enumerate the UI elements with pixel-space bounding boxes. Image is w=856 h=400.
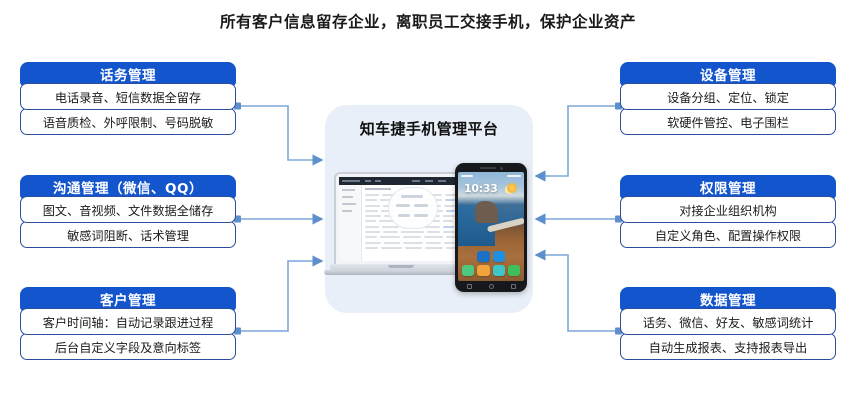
- dashboard-body: [339, 185, 463, 261]
- box-row: 自定义角色、配置操作权限: [620, 221, 836, 248]
- dashboard-topbar: [339, 177, 463, 185]
- box-row: 客户时间轴：自动记录跟进过程: [20, 308, 236, 335]
- box-row: 电话录音、短信数据全留存: [20, 83, 236, 110]
- phone-screen: 10:33: [458, 172, 524, 281]
- weather-sun-icon: [507, 183, 517, 193]
- box-row: 图文、音视频、文件数据全储存: [20, 196, 236, 223]
- phone-camera: [500, 167, 503, 170]
- app-icon-info: [493, 251, 505, 262]
- box-row: 语音质检、外呼限制、号码脱敏: [20, 108, 236, 135]
- box-row: 自动生成报表、支持报表导出: [620, 333, 836, 360]
- smartphone-illustration: 10:33: [455, 163, 527, 292]
- app-icon-contacts: [493, 265, 505, 276]
- laptop-lid: [334, 172, 468, 266]
- feature-box-goutong-guanli[interactable]: 沟通管理（微信、QQ） 图文、音视频、文件数据全储存 敏感词阻断、话术管理: [20, 175, 236, 248]
- app-icon-phone: [462, 265, 474, 276]
- wire-huawu: [238, 106, 322, 160]
- app-icon-wechat: [508, 265, 520, 276]
- feature-box-shuju-guanli[interactable]: 数据管理 话务、微信、好友、敏感词统计 自动生成报表、支持报表导出: [620, 287, 836, 360]
- laptop-foot: [323, 270, 475, 275]
- box-row: 设备分组、定位、锁定: [620, 83, 836, 110]
- wire-shuju: [536, 255, 618, 331]
- feature-box-shebei-guanli[interactable]: 设备管理 设备分组、定位、锁定 软硬件管控、电子围栏: [620, 62, 836, 135]
- phone-status-bar: [458, 172, 524, 179]
- dashboard-table: [362, 185, 463, 261]
- diagram-canvas: 所有客户信息留存企业，离职员工交接手机，保护企业资产: [0, 0, 856, 400]
- box-row: 对接企业组织机构: [620, 196, 836, 223]
- box-row: 话务、微信、好友、敏感词统计: [620, 308, 836, 335]
- center-platform-title: 知车捷手机管理平台: [325, 118, 533, 139]
- box-row: 软硬件管控、电子围栏: [620, 108, 836, 135]
- laptop-screen: [339, 177, 463, 261]
- laptop-notch: [388, 265, 414, 268]
- wallpaper-cliff: [475, 201, 497, 223]
- phone-nav-bar: [458, 282, 524, 291]
- feature-box-quanxian-guanli[interactable]: 权限管理 对接企业组织机构 自定义角色、配置操作权限: [620, 175, 836, 248]
- box-row: 敏感词阻断、话术管理: [20, 221, 236, 248]
- laptop-illustration: [330, 172, 472, 280]
- dashboard-popover: [388, 187, 438, 229]
- feature-box-kehu-guanli[interactable]: 客户管理 客户时间轴：自动记录跟进过程 后台自定义字段及意向标签: [20, 287, 236, 360]
- phone-clock: 10:33: [464, 182, 498, 195]
- app-icon-browser: [477, 251, 489, 262]
- wire-shebei: [536, 106, 618, 176]
- box-row: 后台自定义字段及意向标签: [20, 333, 236, 360]
- phone-app-grid: [462, 251, 520, 276]
- phone-speaker: [480, 167, 496, 169]
- dashboard-sidebar: [339, 185, 362, 261]
- wire-kehu: [238, 261, 322, 331]
- app-icon-messages: [477, 265, 489, 276]
- feature-box-huawu-guanli[interactable]: 话务管理 电话录音、短信数据全留存 语音质检、外呼限制、号码脱敏: [20, 62, 236, 135]
